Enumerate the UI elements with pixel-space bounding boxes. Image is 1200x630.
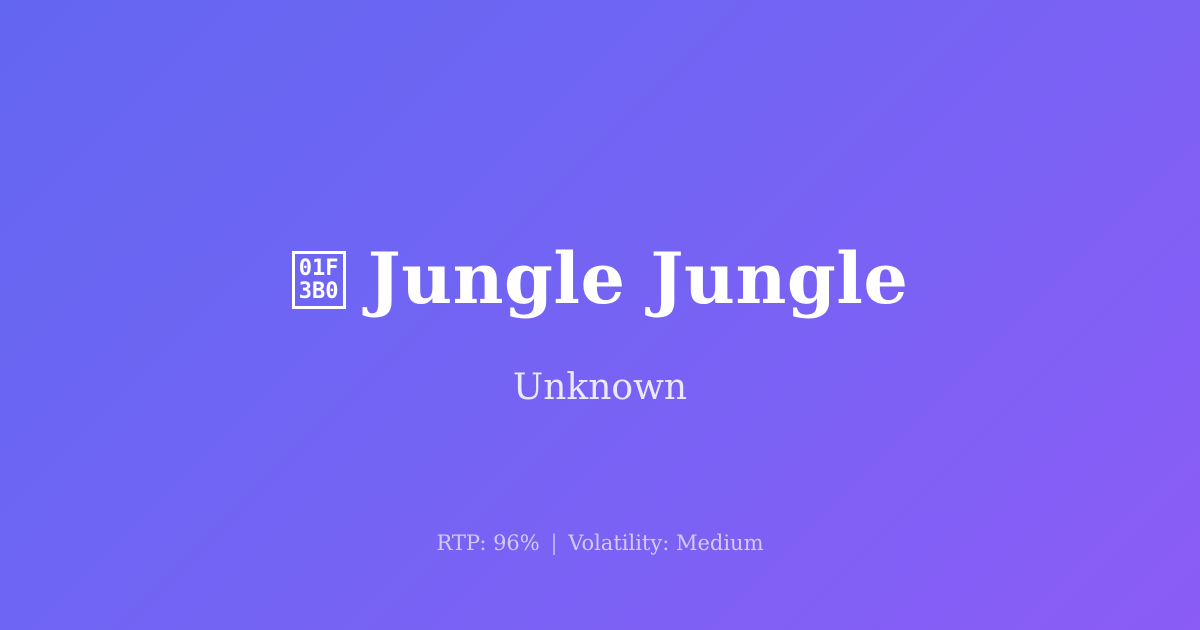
tofu-codepoint-lower: 3B0 — [299, 280, 339, 303]
game-meta-line: RTP: 96% | Volatility: Medium — [0, 529, 1200, 557]
og-share-card: 01F 3B0 Jungle Jungle Unknown RTP: 96% |… — [0, 0, 1200, 630]
meta-separator: | — [546, 531, 561, 555]
rtp-value: RTP: 96% — [436, 531, 539, 555]
page-title: Jungle Jungle — [368, 236, 909, 322]
title-row: 01F 3B0 Jungle Jungle — [0, 236, 1200, 322]
volatility-value: Volatility: Medium — [568, 531, 763, 555]
slot-machine-emoji-icon: 01F 3B0 — [292, 251, 346, 309]
provider-label: Unknown — [0, 365, 1200, 411]
tofu-codepoint-upper: 01F — [299, 257, 339, 280]
